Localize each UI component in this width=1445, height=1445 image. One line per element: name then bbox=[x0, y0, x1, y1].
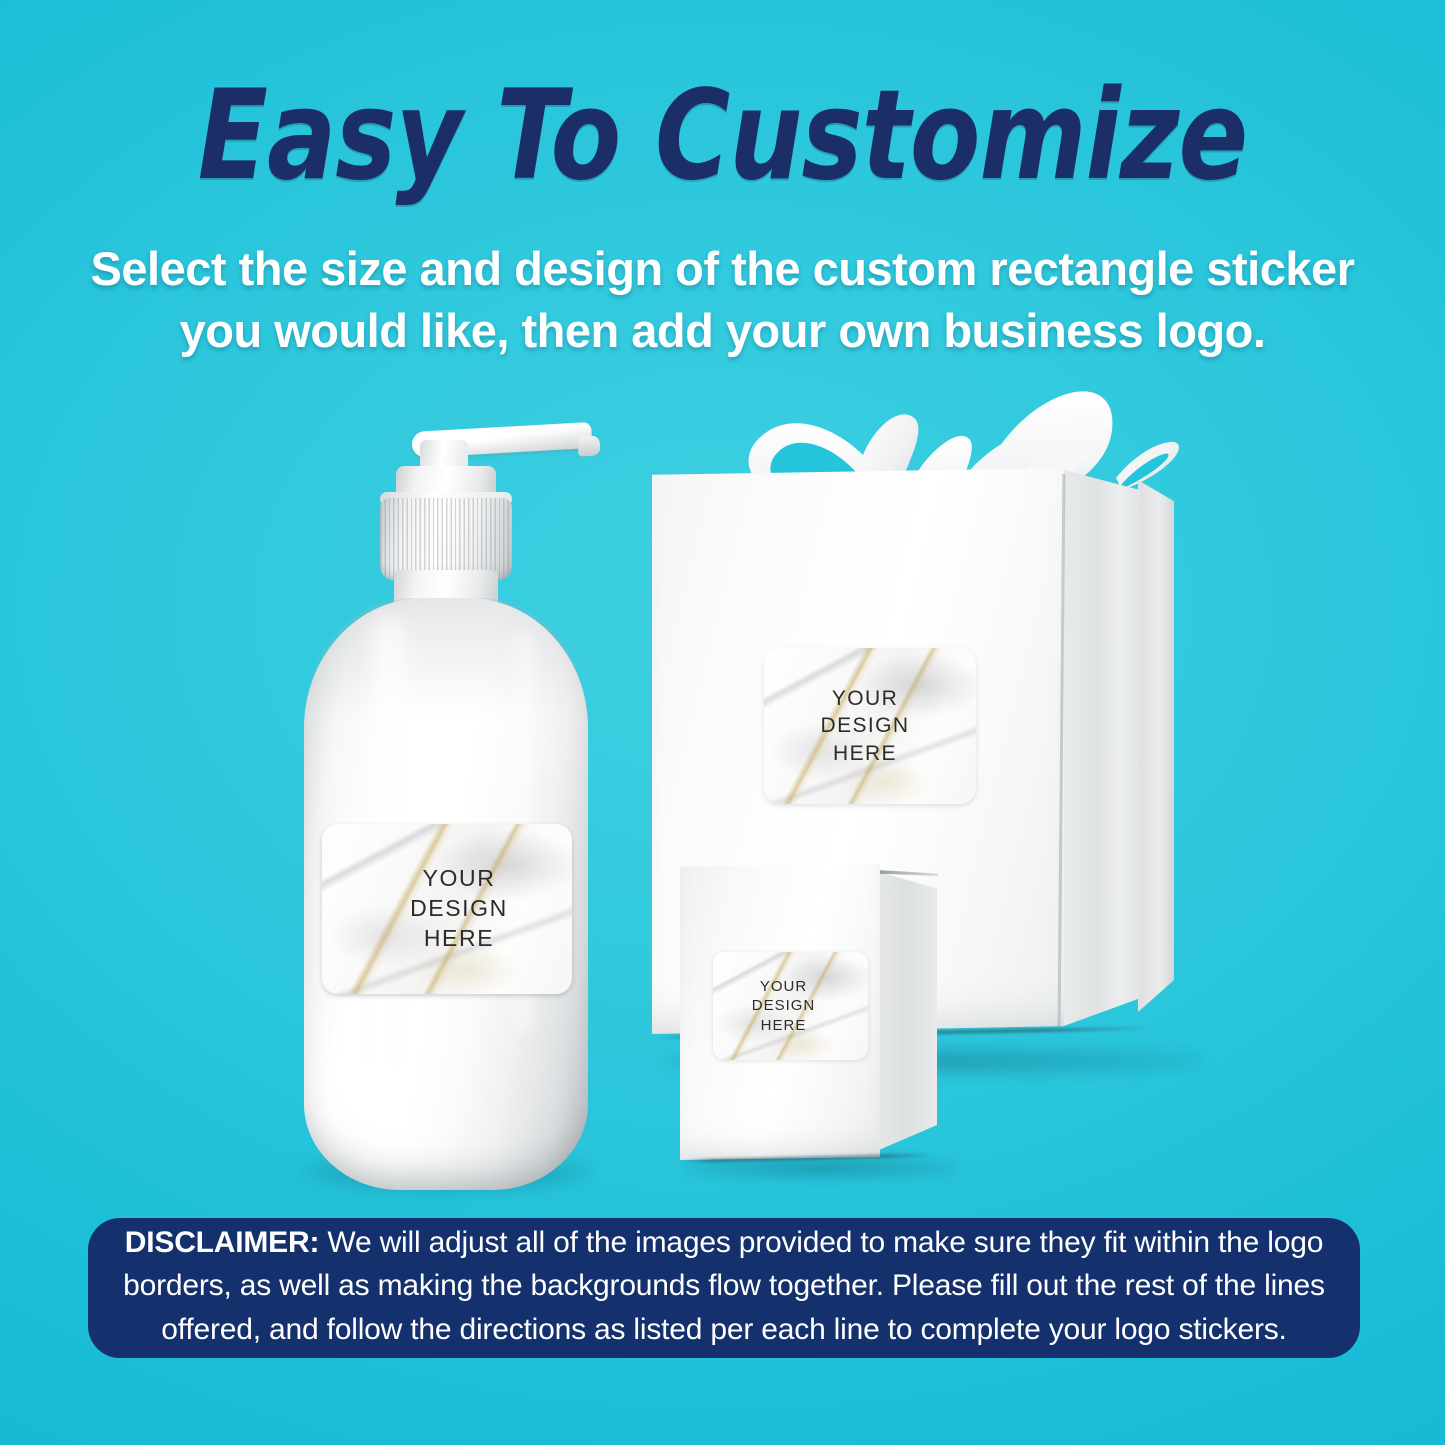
sticker-line-3: HERE bbox=[761, 1016, 807, 1036]
small-box-marble-sticker[interactable]: YOUR DESIGN HERE bbox=[713, 952, 868, 1060]
sticker-line-1: YOUR bbox=[832, 685, 898, 712]
page-title: Easy To Customize bbox=[58, 74, 1387, 198]
sticker-line-1: YOUR bbox=[760, 977, 807, 997]
subtitle-line-1: Select the size and design of the custom… bbox=[70, 238, 1375, 300]
bottle-shoulder-shading bbox=[304, 598, 588, 718]
disclaimer-text: DISCLAIMER: We will adjust all of the im… bbox=[122, 1221, 1326, 1351]
small-box-side-panel bbox=[879, 872, 937, 1150]
pump-nozzle-tip-icon bbox=[577, 435, 600, 456]
disclaimer-prefix: DISCLAIMER: bbox=[125, 1226, 319, 1259]
sticker-line-2: DESIGN bbox=[410, 894, 508, 924]
subtitle-line-2: you would like, then add your own busine… bbox=[70, 300, 1375, 362]
sticker-placeholder-text: YOUR DESIGN HERE bbox=[764, 648, 976, 804]
gift-box-marble-sticker[interactable]: YOUR DESIGN HERE bbox=[764, 648, 976, 804]
sticker-placeholder-text: YOUR DESIGN HERE bbox=[322, 824, 572, 994]
sticker-line-3: HERE bbox=[424, 924, 494, 954]
sticker-placeholder-text: YOUR DESIGN HERE bbox=[713, 952, 868, 1060]
sticker-line-1: YOUR bbox=[423, 864, 496, 894]
pump-ribbed-collar bbox=[380, 498, 512, 580]
sticker-line-2: DESIGN bbox=[752, 996, 816, 1016]
product-scene: YOUR DESIGN HERE bbox=[0, 380, 1445, 1210]
disclaimer-box: DISCLAIMER: We will adjust all of the im… bbox=[88, 1218, 1360, 1358]
sticker-line-3: HERE bbox=[833, 740, 897, 767]
header: Easy To Customize Select the size and de… bbox=[0, 0, 1445, 362]
gift-box-back-panel bbox=[1138, 480, 1174, 1012]
sticker-line-2: DESIGN bbox=[821, 712, 910, 739]
pump-bottle-product: YOUR DESIGN HERE bbox=[292, 422, 602, 1200]
bottle-marble-sticker[interactable]: YOUR DESIGN HERE bbox=[322, 824, 572, 994]
small-box-product: YOUR DESIGN HERE bbox=[680, 856, 962, 1176]
promo-banner: Easy To Customize Select the size and de… bbox=[0, 0, 1445, 1445]
gift-box-side-panel bbox=[1064, 470, 1140, 1026]
page-subtitle: Select the size and design of the custom… bbox=[0, 238, 1445, 362]
